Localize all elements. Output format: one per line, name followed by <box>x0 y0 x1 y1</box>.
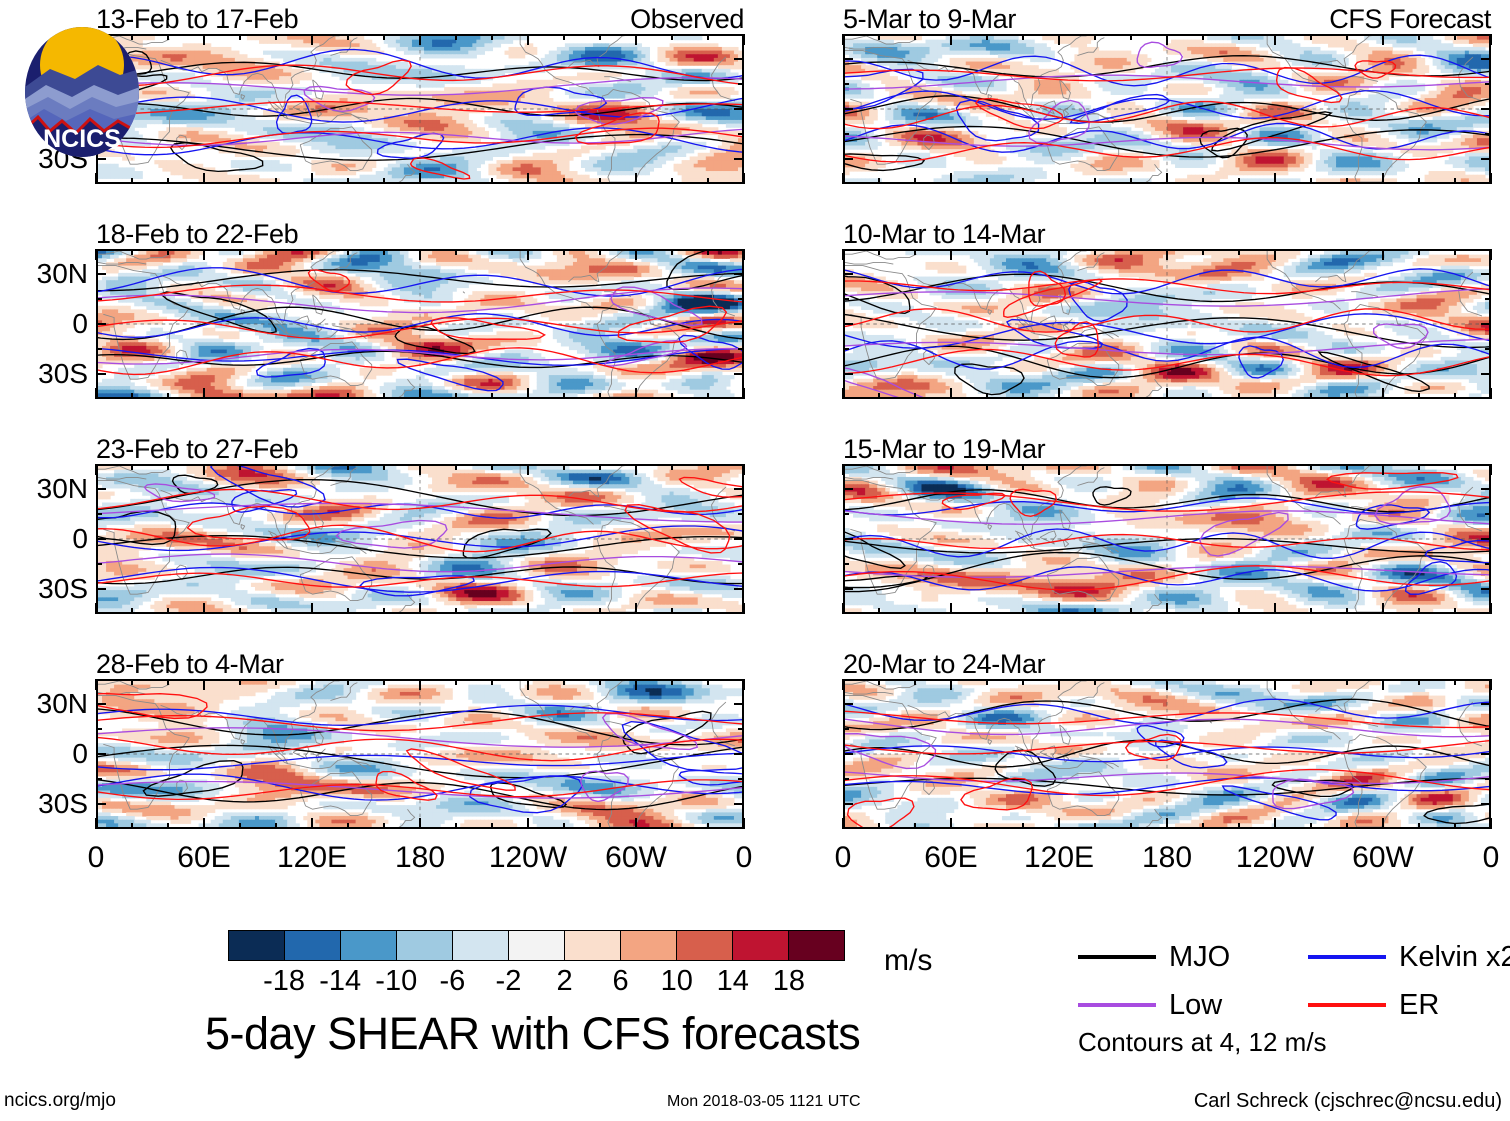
x-tick-label: 120W <box>1236 843 1314 873</box>
x-tick-label: 0 <box>736 843 753 873</box>
x-tick <box>203 34 206 45</box>
x-tick <box>1346 393 1349 399</box>
map-panel-0: 13-Feb to 17-FebObserved30N030S <box>96 34 744 184</box>
x-tick <box>635 818 638 829</box>
y-tick <box>843 488 853 491</box>
y-tick <box>96 778 102 781</box>
x-tick <box>842 679 845 690</box>
x-tick <box>878 608 881 614</box>
x-tick <box>1382 388 1385 399</box>
x-tick-label: 60W <box>1352 843 1414 873</box>
x-tick <box>419 249 422 260</box>
colorbar-tick-label: 2 <box>556 965 572 997</box>
x-tick <box>491 34 494 40</box>
main-title: 5-day SHEAR with CFS forecasts <box>205 1008 860 1060</box>
y-tick <box>96 373 106 376</box>
legend-line-swatch <box>1078 955 1156 958</box>
x-tick <box>599 464 602 470</box>
x-tick <box>635 34 638 45</box>
y-tick <box>843 728 849 731</box>
x-tick <box>563 393 566 399</box>
x-tick <box>1418 464 1421 470</box>
credit: Carl Schreck (cjschrec@ncsu.edu) <box>1194 1090 1502 1113</box>
x-tick <box>1166 679 1169 690</box>
map-panel-3: 28-Feb to 4-Mar30N030S060E120E180120W60W… <box>96 679 744 829</box>
x-tick <box>491 249 494 255</box>
x-tick <box>527 173 530 184</box>
x-tick-label: 0 <box>1483 843 1500 873</box>
map-area <box>843 679 1491 829</box>
x-tick-label: 0 <box>835 843 852 873</box>
x-tick <box>1238 393 1241 399</box>
x-tick <box>95 173 98 184</box>
x-tick <box>347 823 350 829</box>
ncics-url[interactable]: ncics.org/mjo <box>4 1090 116 1112</box>
map-area <box>96 34 744 184</box>
contour-note: Contours at 4, 12 m/s <box>1078 1027 1327 1058</box>
x-tick <box>1382 679 1385 690</box>
y-tick <box>843 158 853 161</box>
x-tick <box>131 679 134 685</box>
x-tick <box>347 393 350 399</box>
x-tick <box>455 608 458 614</box>
y-tick <box>96 298 102 301</box>
map-panel-5: 10-Mar to 14-Mar <box>843 249 1491 399</box>
x-tick <box>1166 603 1169 614</box>
x-tick <box>203 603 206 614</box>
x-tick <box>167 464 170 470</box>
x-tick <box>599 393 602 399</box>
x-tick <box>1094 608 1097 614</box>
x-tick <box>1238 608 1241 614</box>
x-tick <box>1418 34 1421 40</box>
x-tick <box>527 603 530 614</box>
colorbar-tick-labels: -18-14-10-6-226101418 <box>228 965 845 999</box>
ncics-logo: NCICS <box>20 25 145 165</box>
y-tick <box>843 83 849 86</box>
x-tick <box>455 178 458 184</box>
x-tick <box>1454 34 1457 40</box>
x-tick-label: 60E <box>177 843 230 873</box>
y-tick <box>1481 373 1491 376</box>
y-tick <box>734 488 744 491</box>
x-tick <box>1274 603 1277 614</box>
y-tick-label: 30S <box>38 360 88 388</box>
x-tick <box>707 679 710 685</box>
x-tick <box>1130 393 1133 399</box>
y-tick <box>843 273 853 276</box>
x-tick <box>1166 464 1169 475</box>
x-tick <box>1022 178 1025 184</box>
x-tick <box>1418 679 1421 685</box>
x-tick <box>842 173 845 184</box>
y-tick-label: 0 <box>72 740 88 768</box>
legend-label: Low <box>1169 990 1222 1020</box>
x-tick <box>1094 464 1097 470</box>
colorbar-swatch-0 <box>229 931 285 960</box>
x-tick <box>1094 34 1097 40</box>
x-tick <box>383 608 386 614</box>
x-tick <box>1202 679 1205 685</box>
x-tick <box>635 249 638 260</box>
x-tick <box>743 679 746 690</box>
y-tick-label: 30N <box>37 475 88 503</box>
legend-label: MJO <box>1169 942 1230 972</box>
x-tick <box>878 393 881 399</box>
x-tick <box>311 679 314 690</box>
y-tick <box>1481 58 1491 61</box>
x-tick <box>563 178 566 184</box>
y-tick-label: 0 <box>72 310 88 338</box>
y-tick <box>1485 298 1491 301</box>
x-tick <box>1058 249 1061 260</box>
colorbar-tick-label: 14 <box>717 965 749 997</box>
x-tick <box>1094 679 1097 685</box>
x-tick-label: 120E <box>1024 843 1094 873</box>
x-tick <box>599 679 602 685</box>
colorbar-swatch-7 <box>621 931 677 960</box>
y-tick <box>1481 538 1491 541</box>
x-tick <box>131 249 134 255</box>
y-tick <box>734 323 744 326</box>
x-tick <box>635 603 638 614</box>
x-tick <box>1130 464 1133 470</box>
y-tick <box>734 753 744 756</box>
x-tick <box>1346 679 1349 685</box>
map-panel-1: 18-Feb to 22-Feb30N030S <box>96 249 744 399</box>
y-tick <box>96 703 106 706</box>
x-tick <box>914 249 917 255</box>
x-tick <box>455 464 458 470</box>
x-tick <box>1418 393 1421 399</box>
x-tick <box>131 178 134 184</box>
x-tick-label: 0 <box>88 843 105 873</box>
x-tick <box>599 34 602 40</box>
x-tick <box>1346 178 1349 184</box>
x-tick <box>1058 388 1061 399</box>
x-tick <box>950 173 953 184</box>
x-tick <box>563 464 566 470</box>
x-tick <box>1166 818 1169 829</box>
x-tick <box>914 823 917 829</box>
y-tick <box>96 538 106 541</box>
x-tick <box>491 464 494 470</box>
y-tick <box>96 728 102 731</box>
x-tick <box>1130 608 1133 614</box>
x-tick <box>671 464 674 470</box>
x-tick <box>347 679 350 685</box>
map-area <box>96 679 744 829</box>
x-tick <box>635 388 638 399</box>
x-tick <box>1418 608 1421 614</box>
x-tick <box>203 679 206 690</box>
x-tick <box>950 388 953 399</box>
y-tick <box>734 373 744 376</box>
x-tick <box>1130 823 1133 829</box>
y-tick-label: 30N <box>37 260 88 288</box>
colorbar-tick-label: -10 <box>375 965 417 997</box>
x-tick <box>1490 249 1493 260</box>
x-tick <box>1310 249 1313 255</box>
x-tick <box>1490 464 1493 475</box>
x-tick <box>743 388 746 399</box>
y-tick <box>843 538 853 541</box>
x-tick <box>203 464 206 475</box>
x-tick <box>1346 823 1349 829</box>
x-tick <box>1022 249 1025 255</box>
x-tick <box>311 464 314 475</box>
x-tick <box>1022 393 1025 399</box>
x-tick <box>455 249 458 255</box>
colorbar-tick-label: 10 <box>661 965 693 997</box>
x-tick <box>1238 178 1241 184</box>
x-tick <box>1166 388 1169 399</box>
x-tick-label: 120E <box>277 843 347 873</box>
column-header: Observed <box>630 4 744 34</box>
y-tick <box>1485 563 1491 566</box>
x-tick <box>1202 464 1205 470</box>
x-tick <box>1202 823 1205 829</box>
x-tick <box>203 173 206 184</box>
x-tick <box>491 178 494 184</box>
x-tick <box>635 173 638 184</box>
y-tick <box>734 58 744 61</box>
map-area <box>843 34 1491 184</box>
legend-label: Kelvin x2 <box>1399 942 1510 972</box>
y-tick <box>1481 323 1491 326</box>
x-tick <box>707 393 710 399</box>
x-tick <box>671 34 674 40</box>
y-tick <box>843 803 853 806</box>
y-tick <box>843 563 849 566</box>
x-tick <box>1454 178 1457 184</box>
x-tick <box>167 608 170 614</box>
x-tick-label: 180 <box>395 843 445 873</box>
x-tick <box>1058 679 1061 690</box>
x-tick <box>1166 173 1169 184</box>
x-tick <box>491 823 494 829</box>
x-tick <box>563 823 566 829</box>
x-tick <box>563 249 566 255</box>
panel-title: 28-Feb to 4-Mar <box>96 649 284 679</box>
colorbar-swatch-4 <box>453 931 509 960</box>
x-tick <box>599 249 602 255</box>
x-tick <box>950 818 953 829</box>
x-tick <box>842 818 845 829</box>
x-tick <box>1382 603 1385 614</box>
x-tick <box>707 608 710 614</box>
x-tick <box>1130 249 1133 255</box>
y-tick <box>1481 488 1491 491</box>
x-tick <box>131 608 134 614</box>
y-tick <box>734 108 744 111</box>
x-tick <box>527 388 530 399</box>
x-tick <box>1094 823 1097 829</box>
x-tick <box>239 34 242 40</box>
map-panel-7: 20-Mar to 24-Mar060E120E180120W60W0 <box>843 679 1491 829</box>
y-tick-label: 0 <box>72 525 88 553</box>
x-tick <box>239 393 242 399</box>
x-tick <box>743 34 746 45</box>
colorbar-units: m/s <box>884 944 932 978</box>
y-tick <box>1481 273 1491 276</box>
y-tick <box>738 563 744 566</box>
y-tick <box>738 348 744 351</box>
panel-title: 23-Feb to 27-Feb <box>96 434 298 464</box>
x-tick <box>599 823 602 829</box>
panel-title: 5-Mar to 9-Mar <box>843 4 1016 34</box>
x-tick <box>1274 464 1277 475</box>
x-tick <box>167 679 170 685</box>
x-tick <box>311 34 314 45</box>
x-tick <box>419 818 422 829</box>
x-tick <box>1058 603 1061 614</box>
x-tick <box>419 679 422 690</box>
x-tick <box>743 818 746 829</box>
x-tick <box>1346 464 1349 470</box>
x-tick <box>131 464 134 470</box>
x-tick <box>878 464 881 470</box>
x-tick <box>311 603 314 614</box>
x-tick-label: 60W <box>605 843 667 873</box>
x-tick <box>1202 34 1205 40</box>
x-tick <box>878 34 881 40</box>
x-tick <box>986 393 989 399</box>
x-tick <box>1454 393 1457 399</box>
x-tick <box>347 464 350 470</box>
x-tick <box>347 249 350 255</box>
x-tick <box>239 249 242 255</box>
legend-line-swatch <box>1308 955 1386 958</box>
y-tick <box>1485 133 1491 136</box>
y-tick-label: 30N <box>37 690 88 718</box>
colorbar-swatch-5 <box>509 931 565 960</box>
x-tick <box>986 249 989 255</box>
x-tick <box>1022 679 1025 685</box>
x-tick <box>1346 34 1349 40</box>
x-tick <box>311 388 314 399</box>
x-tick <box>455 34 458 40</box>
x-tick <box>950 464 953 475</box>
x-tick <box>878 679 881 685</box>
x-tick <box>167 393 170 399</box>
x-tick <box>1490 603 1493 614</box>
x-tick <box>383 393 386 399</box>
x-tick <box>986 679 989 685</box>
legend-label: ER <box>1399 990 1439 1020</box>
colorbar-swatch-10 <box>789 931 844 960</box>
x-tick <box>1382 818 1385 829</box>
x-tick <box>914 464 917 470</box>
x-tick <box>878 178 881 184</box>
x-tick <box>1310 34 1313 40</box>
y-tick-label: 30S <box>38 790 88 818</box>
x-tick <box>986 178 989 184</box>
x-tick <box>1130 679 1133 685</box>
x-tick <box>914 393 917 399</box>
x-tick <box>455 393 458 399</box>
y-tick <box>843 373 853 376</box>
colorbar-swatch-6 <box>565 931 621 960</box>
x-tick <box>131 823 134 829</box>
x-tick <box>1094 393 1097 399</box>
x-tick <box>1310 464 1313 470</box>
x-tick <box>275 464 278 470</box>
x-tick <box>1310 679 1313 685</box>
panel-title: 18-Feb to 22-Feb <box>96 219 298 249</box>
x-tick <box>527 249 530 260</box>
y-tick <box>738 298 744 301</box>
x-tick <box>986 34 989 40</box>
x-tick <box>842 249 845 260</box>
panel-title: 15-Mar to 19-Mar <box>843 434 1045 464</box>
x-tick <box>1382 464 1385 475</box>
y-tick <box>738 83 744 86</box>
x-tick <box>167 823 170 829</box>
x-tick <box>527 34 530 45</box>
x-tick <box>275 393 278 399</box>
x-tick <box>203 388 206 399</box>
x-tick <box>1346 608 1349 614</box>
x-tick <box>167 178 170 184</box>
y-tick <box>738 513 744 516</box>
x-tick <box>986 464 989 470</box>
x-tick <box>1238 823 1241 829</box>
x-tick <box>707 823 710 829</box>
map-panel-4: 5-Mar to 9-MarCFS Forecast <box>843 34 1491 184</box>
colorbar-swatch-8 <box>677 931 733 960</box>
x-tick <box>1058 34 1061 45</box>
x-tick <box>563 679 566 685</box>
x-tick <box>95 388 98 399</box>
x-tick <box>635 679 638 690</box>
y-tick <box>96 348 102 351</box>
x-tick <box>1022 608 1025 614</box>
y-tick <box>843 298 849 301</box>
x-tick <box>1274 818 1277 829</box>
x-tick <box>743 464 746 475</box>
x-tick-label: 60E <box>924 843 977 873</box>
x-tick <box>1238 464 1241 470</box>
x-tick <box>455 679 458 685</box>
x-tick <box>1490 34 1493 45</box>
x-tick <box>347 608 350 614</box>
x-tick <box>1490 173 1493 184</box>
y-tick <box>96 563 102 566</box>
y-tick <box>734 588 744 591</box>
x-tick <box>1382 173 1385 184</box>
y-tick <box>96 323 106 326</box>
x-tick <box>383 34 386 40</box>
x-tick <box>1382 249 1385 260</box>
x-tick <box>1022 34 1025 40</box>
colorbar-swatch-1 <box>285 931 341 960</box>
x-tick <box>167 34 170 40</box>
x-tick <box>1454 608 1457 614</box>
x-tick <box>1202 178 1205 184</box>
x-tick <box>131 393 134 399</box>
panel-title: 20-Mar to 24-Mar <box>843 649 1045 679</box>
x-tick <box>842 603 845 614</box>
x-tick <box>671 178 674 184</box>
x-tick <box>1454 464 1457 470</box>
x-tick <box>1058 464 1061 475</box>
x-tick <box>914 608 917 614</box>
x-tick <box>986 608 989 614</box>
y-tick <box>1485 83 1491 86</box>
x-tick <box>419 388 422 399</box>
x-tick <box>383 249 386 255</box>
